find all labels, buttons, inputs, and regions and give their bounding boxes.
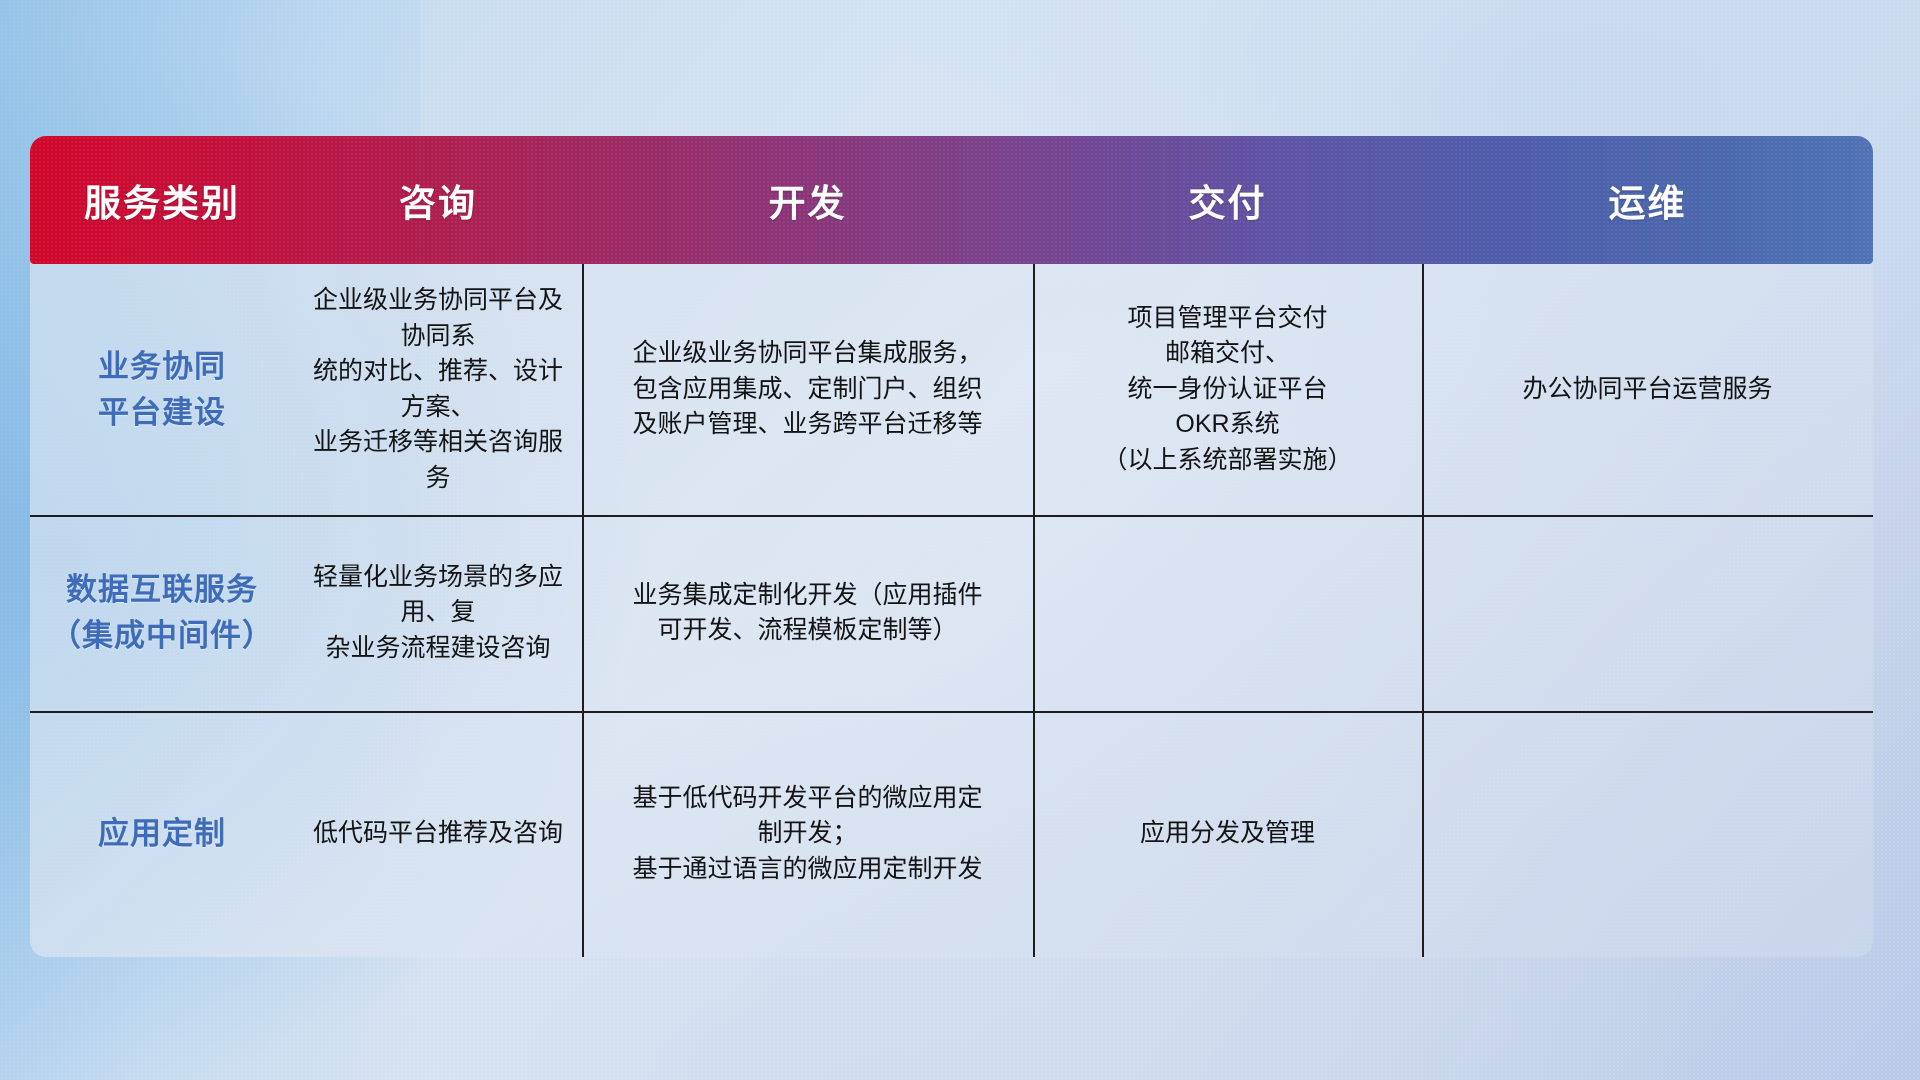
table-row: 业务协同 平台建设 企业级业务协同平台及协同系 统的对比、推荐、设计方案、 业务…: [30, 264, 1873, 515]
cell-row1-consulting: 企业级业务协同平台及协同系 统的对比、推荐、设计方案、 业务迁移等相关咨询服务: [294, 264, 582, 515]
row-divider-1: [30, 515, 1873, 517]
column-header-category: 服务类别: [30, 173, 294, 227]
table-header-row: 服务类别 咨询 开发 交付 运维: [30, 136, 1873, 264]
cell-row2-operations: [1422, 515, 1873, 711]
column-divider-2: [1033, 264, 1035, 957]
table-row: 数据互联服务 （集成中间件） 轻量化业务场景的多应用、复 杂业务流程建设咨询 业…: [30, 515, 1873, 711]
table-body: 业务协同 平台建设 企业级业务协同平台及协同系 统的对比、推荐、设计方案、 业务…: [30, 264, 1873, 957]
cell-row3-consulting: 低代码平台推荐及咨询: [294, 711, 582, 957]
row-label-business-collaboration: 业务协同 平台建设: [30, 264, 294, 515]
row-divider-2: [30, 711, 1873, 713]
column-divider-1: [582, 264, 584, 957]
cell-row1-delivery: 项目管理平台交付 邮箱交付、 统一身份认证平台 OKR系统 （以上系统部署实施）: [1033, 264, 1422, 515]
column-header-consulting: 咨询: [294, 173, 582, 227]
cell-row3-delivery: 应用分发及管理: [1033, 711, 1422, 957]
row-label-data-interconnection: 数据互联服务 （集成中间件）: [30, 515, 294, 711]
cell-row2-development: 业务集成定制化开发（应用插件 可开发、流程模板定制等）: [582, 515, 1033, 711]
cell-row1-operations: 办公协同平台运营服务: [1422, 264, 1873, 515]
cell-row3-operations: [1422, 711, 1873, 957]
column-header-operations: 运维: [1422, 173, 1873, 227]
cell-row3-development: 基于低代码开发平台的微应用定 制开发； 基于通过语言的微应用定制开发: [582, 711, 1033, 957]
cell-row2-delivery: [1033, 515, 1422, 711]
column-divider-3: [1422, 264, 1424, 957]
row-label-application-customization: 应用定制: [30, 711, 294, 957]
service-category-table: 服务类别 咨询 开发 交付 运维 业务协同 平台建设 企业级业务协同平台及协同系…: [30, 136, 1873, 957]
column-header-delivery: 交付: [1033, 173, 1422, 227]
cell-row2-consulting: 轻量化业务场景的多应用、复 杂业务流程建设咨询: [294, 515, 582, 711]
cell-row1-development: 企业级业务协同平台集成服务， 包含应用集成、定制门户、组织 及账户管理、业务跨平…: [582, 264, 1033, 515]
table-row: 应用定制 低代码平台推荐及咨询 基于低代码开发平台的微应用定 制开发； 基于通过…: [30, 711, 1873, 957]
column-header-development: 开发: [582, 173, 1033, 227]
